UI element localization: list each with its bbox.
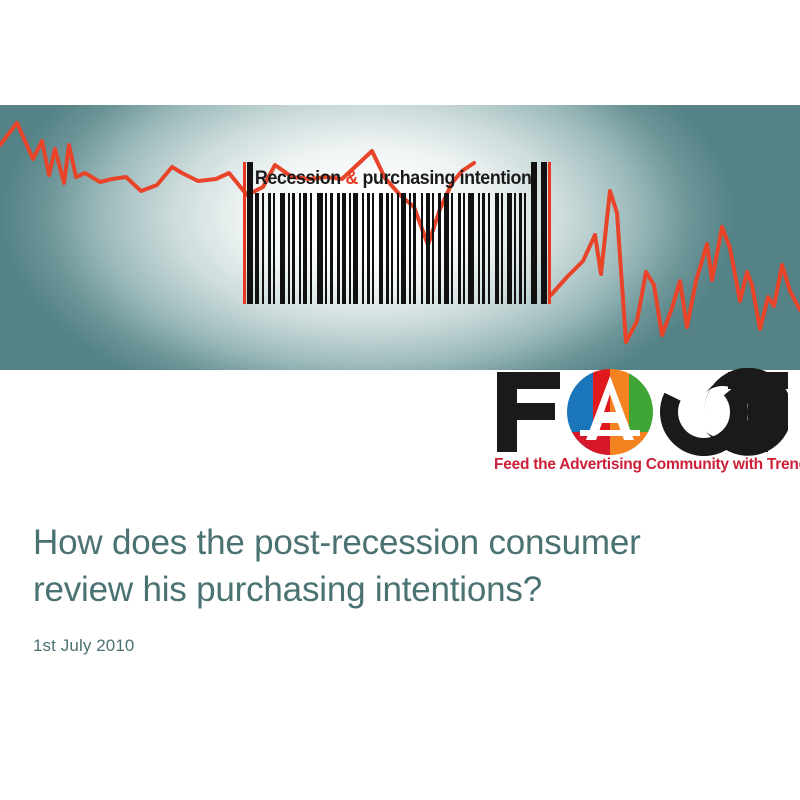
barcode-label: Recession & purchasing intention — [257, 164, 529, 192]
barcode-bar — [514, 193, 516, 304]
barcode-bar — [292, 193, 295, 304]
barcode-bars — [255, 193, 529, 304]
barcode-guard-right-black-1 — [531, 162, 537, 304]
barcode-bar — [349, 193, 351, 304]
barcode-guard-right-red — [548, 162, 551, 304]
barcode-bar — [451, 193, 453, 304]
fact-logo: Feed the Advertising Community with Tren… — [492, 368, 792, 480]
barcode-bar — [262, 193, 264, 304]
logo-letter-f — [497, 372, 560, 452]
barcode-bar — [337, 193, 340, 304]
page-title: How does the post-recession consumer rev… — [33, 520, 753, 613]
barcode-bar — [391, 193, 393, 304]
barcode-bar — [273, 193, 275, 304]
barcode-bar — [458, 193, 461, 304]
barcode-bar — [482, 193, 485, 304]
barcode-bar — [426, 193, 430, 304]
hero-background: Recession & purchasing intention — [0, 105, 800, 370]
barcode-label-suffix: purchasing intention — [358, 168, 532, 189]
barcode-bar — [255, 193, 259, 304]
barcode-bar — [353, 193, 358, 304]
barcode-bar — [463, 193, 465, 304]
barcode-bar — [288, 193, 290, 304]
barcode-guard-left-black — [247, 162, 253, 304]
barcode-bar — [413, 193, 416, 304]
barcode-bar — [488, 193, 490, 304]
presentation-date: 1st July 2010 — [33, 637, 753, 654]
barcode-bar — [379, 193, 383, 304]
hero-banner: Recession & purchasing intention — [0, 105, 800, 370]
barcode-bar — [401, 193, 406, 304]
barcode-bar — [299, 193, 301, 304]
barcode-guard-left-red — [243, 162, 246, 304]
barcode-bar — [421, 193, 423, 304]
barcode-bar — [468, 193, 474, 304]
barcode-bar — [432, 193, 434, 304]
page-title-line-2: review his purchasing intentions? — [33, 570, 542, 609]
barcode-bar — [280, 193, 285, 304]
barcode-bar — [386, 193, 389, 304]
barcode-graphic: Recession & purchasing intention — [243, 162, 551, 304]
wheel-a-base-gap — [580, 430, 640, 436]
barcode-bar — [409, 193, 411, 304]
barcode-bar — [507, 193, 512, 304]
logo-tagline: Feed the Advertising Community with Tren… — [494, 456, 790, 474]
barcode-bar — [524, 193, 526, 304]
barcode-label-text: Recession & purchasing intention — [255, 169, 532, 188]
chart-line-right — [551, 191, 800, 342]
barcode-bar — [478, 193, 480, 304]
barcode-bar — [362, 193, 364, 304]
barcode-bar — [310, 193, 312, 304]
barcode-bar — [342, 193, 346, 304]
barcode-bar — [519, 193, 522, 304]
barcode-guard-right-black-2 — [541, 162, 547, 304]
title-block: How does the post-recession consumer rev… — [33, 520, 753, 654]
barcode-label-ampersand: & — [345, 168, 358, 189]
barcode-label-prefix: Recession — [255, 168, 346, 189]
barcode-bar — [501, 193, 503, 304]
barcode-bar — [372, 193, 374, 304]
barcode-bar — [495, 193, 499, 304]
barcode-bar — [330, 193, 333, 304]
barcode-bar — [325, 193, 327, 304]
barcode-bar — [367, 193, 370, 304]
page-title-line-1: How does the post-recession consumer — [33, 523, 641, 562]
barcode-bar — [268, 193, 271, 304]
barcode-bar — [438, 193, 441, 304]
logo-letter-a-wheel — [567, 369, 655, 456]
barcode-bar — [444, 193, 449, 304]
barcode-bar — [397, 193, 399, 304]
barcode-bar — [303, 193, 307, 304]
barcode-bar — [317, 193, 323, 304]
fact-wordmark — [492, 368, 788, 456]
